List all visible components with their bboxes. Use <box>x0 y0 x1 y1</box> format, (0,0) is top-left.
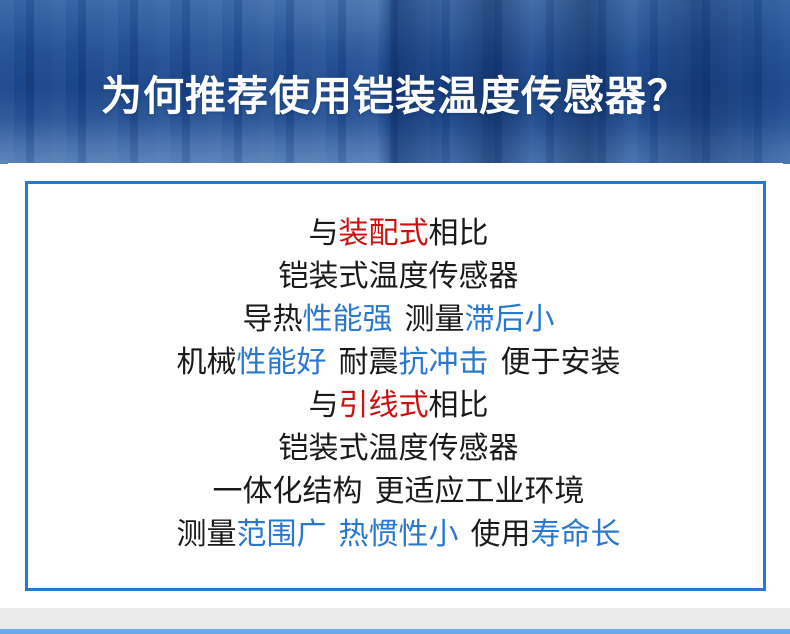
text-segment-black: 一体化结构 <box>213 475 363 508</box>
feature-line-compare-leadwire: 与引线式相比 <box>28 384 769 427</box>
text-segment-blue: 抗冲击 <box>399 346 489 379</box>
blue-border-frame: 与装配式相比铠装式温度传感器导热性能强测量滞后小机械性能好耐震抗冲击便于安装与引… <box>25 181 766 591</box>
page-title: 为何推荐使用铠装温度传感器？ <box>0 72 790 120</box>
feature-line-measuring-range: 测量范围广热惯性小使用寿命长 <box>28 513 769 556</box>
feature-line-thermal-conductivity: 导热性能强测量滞后小 <box>28 298 769 341</box>
text-segment-black: 铠装式温度传感器 <box>279 432 519 465</box>
product-detail-page: 为何推荐使用铠装温度传感器？ 与装配式相比铠装式温度传感器导热性能强测量滞后小机… <box>0 0 790 634</box>
text-segment-blue: 热惯性小 <box>339 518 459 551</box>
feature-line-compare-assembled: 与装配式相比 <box>28 212 769 255</box>
footer-gray-band <box>0 608 790 629</box>
text-segment-black: 测量 <box>177 518 237 551</box>
text-segment-black: 相比 <box>429 217 489 250</box>
text-segment-black: 便于安装 <box>501 346 621 379</box>
text-segment-black: 测量 <box>405 303 465 336</box>
text-segment-red: 装配式 <box>339 217 429 250</box>
text-segment-blue: 性能强 <box>303 303 393 336</box>
feature-text-block: 与装配式相比铠装式温度传感器导热性能强测量滞后小机械性能好耐震抗冲击便于安装与引… <box>28 212 769 556</box>
text-segment-black: 耐震 <box>339 346 399 379</box>
hero-banner: 为何推荐使用铠装温度传感器？ <box>0 0 790 164</box>
text-segment-blue: 性能好 <box>237 346 327 379</box>
text-segment-black: 更适应工业环境 <box>375 475 585 508</box>
text-segment-black: 与 <box>309 217 339 250</box>
text-segment-blue: 范围广 <box>237 518 327 551</box>
text-segment-black: 相比 <box>429 389 489 422</box>
text-segment-black: 与 <box>309 389 339 422</box>
text-segment-black: 铠装式温度传感器 <box>279 260 519 293</box>
feature-line-product-name-2: 铠装式温度传感器 <box>28 427 769 470</box>
feature-line-product-name-1: 铠装式温度传感器 <box>28 255 769 298</box>
text-segment-black: 机械 <box>177 346 237 379</box>
text-segment-red: 引线式 <box>339 389 429 422</box>
text-segment-blue: 滞后小 <box>465 303 555 336</box>
text-segment-black: 导热 <box>243 303 303 336</box>
feature-line-integrated-structure: 一体化结构更适应工业环境 <box>28 470 769 513</box>
content-panel: 与装配式相比铠装式温度传感器导热性能强测量滞后小机械性能好耐震抗冲击便于安装与引… <box>8 163 783 609</box>
text-segment-blue: 寿命长 <box>531 518 621 551</box>
text-segment-black: 使用 <box>471 518 531 551</box>
feature-line-mechanical-performance: 机械性能好耐震抗冲击便于安装 <box>28 341 769 384</box>
footer-blue-band <box>0 629 790 634</box>
